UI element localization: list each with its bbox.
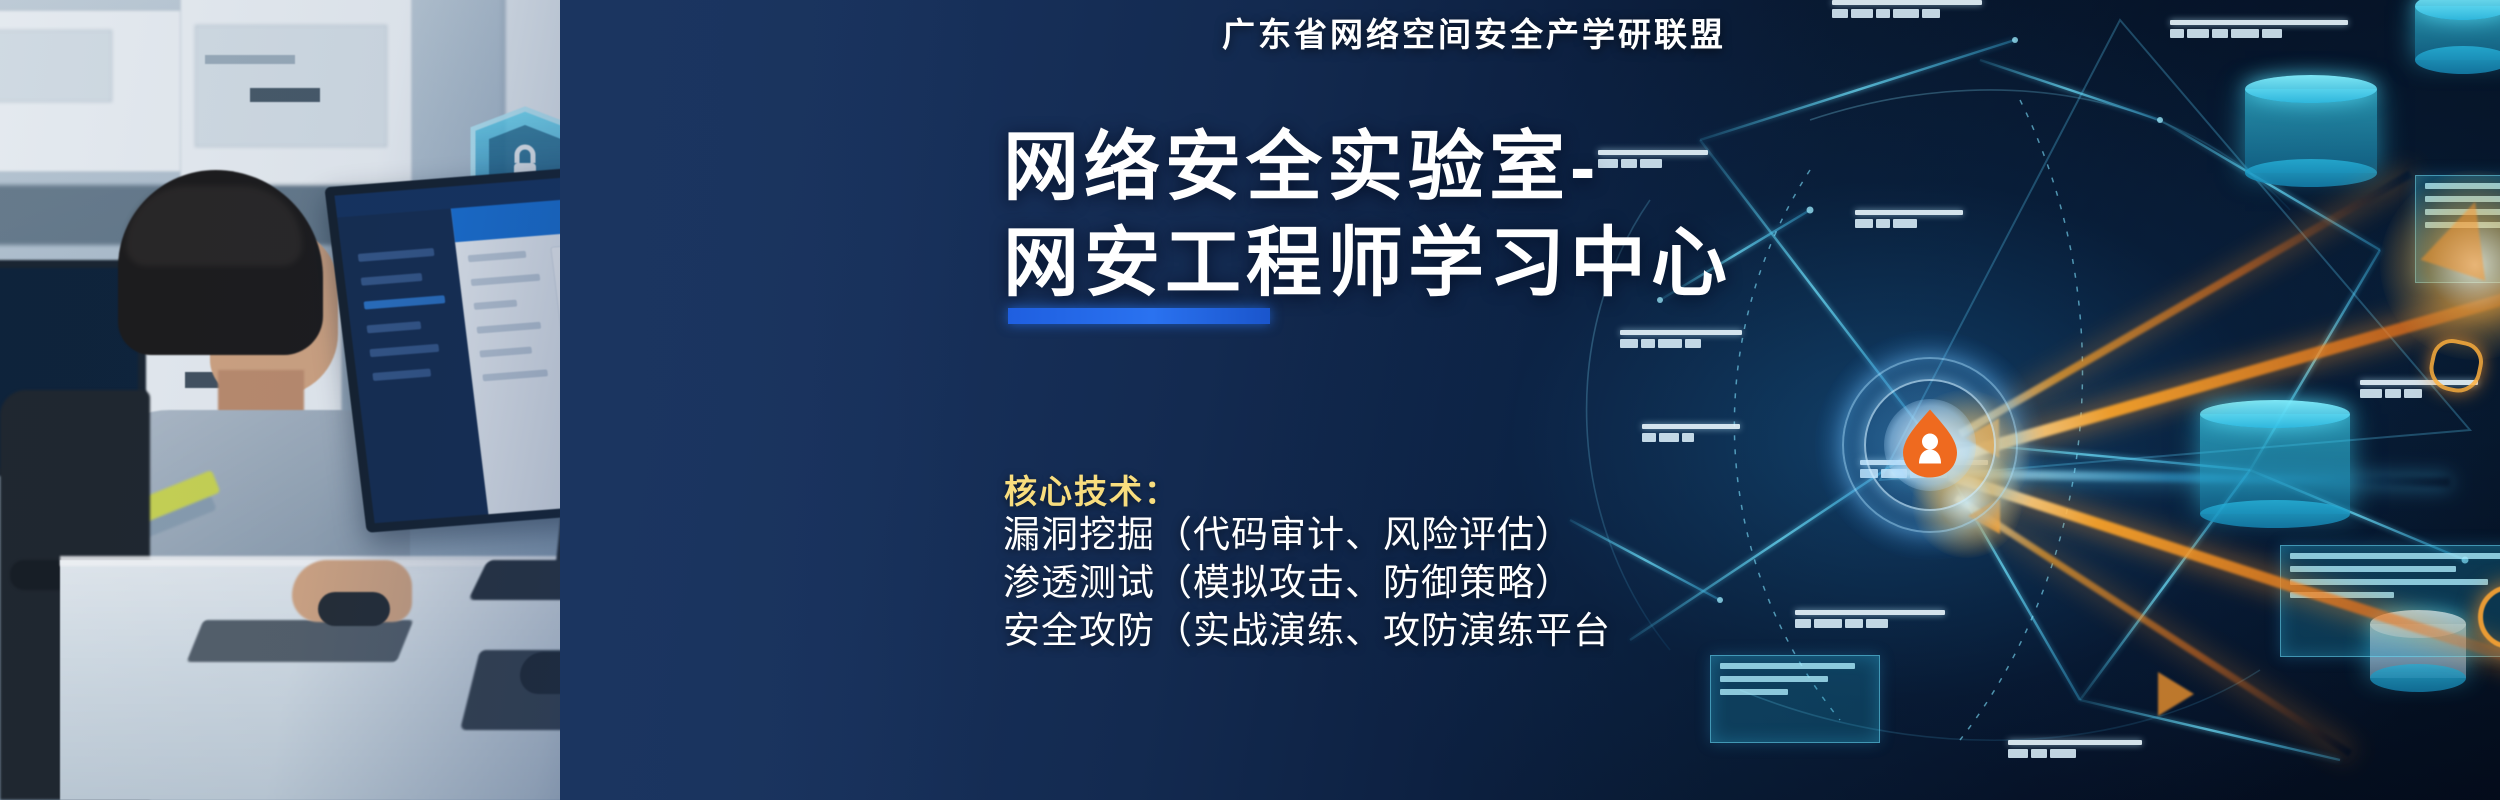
headline-block: 网络安全实验室- 网安工程师学习中心 <box>1003 120 2003 312</box>
core-technology-list: 漏洞挖掘（代码审计、风险评估） 渗透测试（模拟攻击、防御策略） 安全攻防（实战演… <box>1003 513 1611 657</box>
node-label-tag <box>2170 20 2348 38</box>
node-label-tag <box>1642 424 1740 442</box>
hud-info-panel <box>1710 655 1880 743</box>
node-label-tag <box>1832 0 1982 18</box>
headline-line-1: 网络安全实验室- <box>1003 120 2003 216</box>
node-label-tag <box>1620 330 1742 348</box>
database-cylinder <box>2415 0 2500 74</box>
security-lab-banner: 广东省网络空间安全产学研联盟 网络安全实验室- 网安工程师学习中心 核心技术： … <box>0 0 2500 800</box>
database-cylinder <box>2245 75 2377 187</box>
core-technology-item: 渗透测试（模拟攻击、防御策略） <box>1003 561 1611 604</box>
core-technology-item: 漏洞挖掘（代码审计、风险评估） <box>1003 513 1611 556</box>
attack-target-marker <box>1815 330 2045 560</box>
headline-line-2: 网安工程师学习中心 <box>1003 216 2003 312</box>
alliance-title: 广东省网络空间安全产学研联盟 <box>1222 8 1726 56</box>
core-technology-label: 核心技术： <box>1004 465 1179 513</box>
node-label-tag <box>1795 610 1945 628</box>
location-pin-lock-icon <box>1899 408 1961 480</box>
core-technology-item: 安全攻防（实战演练、攻防演练平台 <box>1003 609 1611 652</box>
beam-arrow <box>2158 672 2194 716</box>
node-label-tag <box>2008 740 2142 758</box>
database-cylinder <box>2200 400 2350 528</box>
headline-underline-bar <box>1008 308 1270 324</box>
